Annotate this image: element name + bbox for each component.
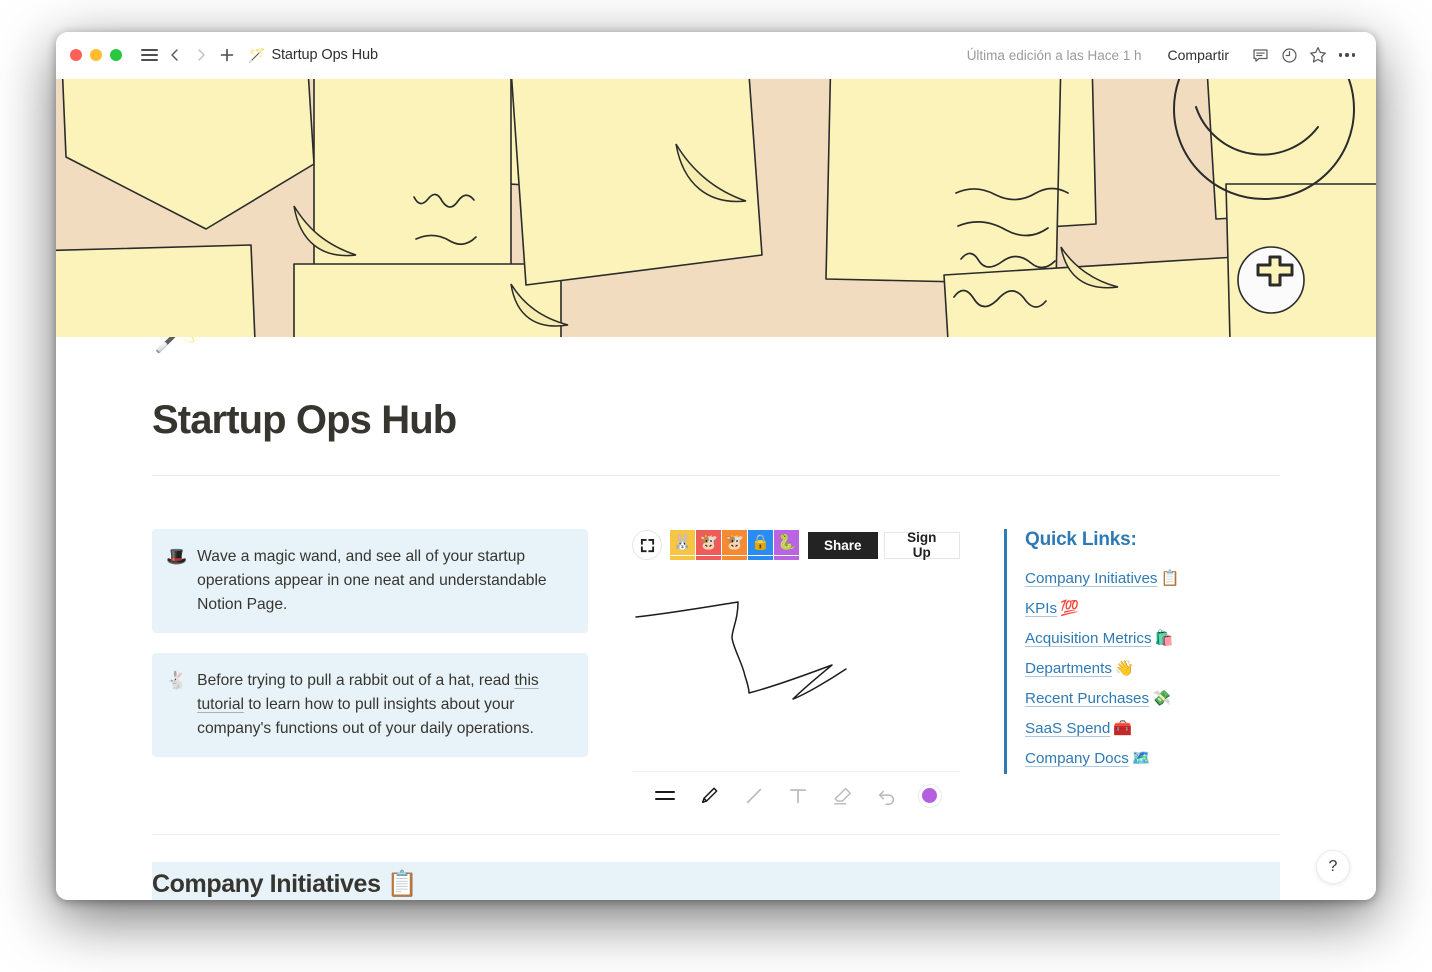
eraser-tool-icon[interactable] <box>829 783 855 809</box>
whiteboard-canvas[interactable] <box>632 575 960 771</box>
app-window: 🪄 Startup Ops Hub Última edición a las H… <box>56 32 1376 900</box>
history-icon[interactable] <box>1276 42 1302 68</box>
sidebar-toggle-icon[interactable] <box>136 42 162 68</box>
titlebar-actions: Última edición a las Hace 1 h Compartir <box>967 42 1360 68</box>
section-heading-company-initiatives[interactable]: Company Initiatives📋 <box>152 862 1280 900</box>
document-title[interactable]: Startup Ops Hub <box>271 47 378 63</box>
avatar[interactable]: 🐮 <box>696 530 721 560</box>
quick-link-label: Acquisition Metrics <box>1025 630 1152 647</box>
quick-link-acquisition-metrics[interactable]: Acquisition Metrics🛍️ <box>1025 624 1280 654</box>
quick-link-kpis[interactable]: KPIs💯 <box>1025 594 1280 624</box>
whiteboard-signup-button[interactable]: Sign Up <box>884 532 960 559</box>
title-divider <box>152 475 1280 476</box>
avatar-chip: 🐮 <box>722 530 747 555</box>
column-middle: 🐰 🐮 🐮 <box>588 529 960 819</box>
toolbox-icon: 🧰 <box>1113 714 1132 744</box>
quick-link-saas-spend[interactable]: SaaS Spend🧰 <box>1025 714 1280 744</box>
forward-arrow-icon[interactable] <box>188 42 214 68</box>
avatar[interactable]: 🔒 <box>748 530 773 560</box>
avatar-chip: 🐮 <box>696 530 721 555</box>
avatar[interactable]: 🐍 <box>774 530 799 560</box>
last-edited-label: Última edición a las Hace 1 h <box>967 48 1142 63</box>
cover-illustration <box>56 79 1376 337</box>
waving-hand-icon: 👋 <box>1115 654 1134 684</box>
callout-magic-wand[interactable]: 🎩 Wave a magic wand, and see all of your… <box>152 529 588 633</box>
quick-link-label: Company Docs <box>1025 750 1129 767</box>
quick-link-label: Departments <box>1025 660 1112 677</box>
whiteboard-share-button[interactable]: Share <box>808 532 878 559</box>
money-with-wings-icon: 💸 <box>1152 684 1171 714</box>
rabbit-icon: 🐇 <box>166 669 187 741</box>
collaborator-avatars[interactable]: 🐰 🐮 🐮 <box>670 530 799 560</box>
quick-link-label: Company Initiatives <box>1025 570 1158 587</box>
avatar[interactable]: 🐰 <box>670 530 695 560</box>
callout-body-lead: Before trying to pull a rabbit out of a … <box>197 672 514 689</box>
quick-links-block: Quick Links: Company Initiatives📋 KPIs💯 … <box>1004 529 1280 774</box>
window-controls[interactable] <box>70 49 122 61</box>
menu-tool-icon[interactable] <box>652 783 678 809</box>
page-tab-emoji: 🪄 <box>248 47 265 64</box>
avatar-chip: 🐍 <box>774 530 799 555</box>
column-right: Quick Links: Company Initiatives📋 KPIs💯 … <box>960 529 1280 819</box>
help-button[interactable]: ? <box>1316 850 1350 884</box>
plus-icon[interactable] <box>214 42 240 68</box>
favorite-star-icon[interactable] <box>1305 42 1331 68</box>
active-color-swatch <box>922 788 937 803</box>
avatar-color-bar <box>696 556 721 560</box>
callout-tutorial[interactable]: 🐇 Before trying to pull a rabbit out of … <box>152 653 588 757</box>
avatar-color-bar <box>774 556 799 560</box>
maximize-window-button[interactable] <box>110 49 122 61</box>
quick-link-recent-purchases[interactable]: Recent Purchases💸 <box>1025 684 1280 714</box>
line-tool-icon[interactable] <box>741 783 767 809</box>
fullscreen-icon[interactable] <box>632 530 662 560</box>
quick-link-label: Recent Purchases <box>1025 690 1149 707</box>
back-arrow-icon[interactable] <box>162 42 188 68</box>
clipboard-icon: 📋 <box>387 870 418 898</box>
callout-body-tail: to learn how to pull insights about your… <box>197 696 534 737</box>
screen-root: 🪄 Startup Ops Hub Última edición a las H… <box>0 0 1432 972</box>
quick-links-title: Quick Links: <box>1025 529 1280 551</box>
quick-link-label: SaaS Spend <box>1025 720 1110 737</box>
avatar-chip: 🔒 <box>748 530 773 555</box>
pen-tool-icon[interactable] <box>696 783 722 809</box>
comment-icon[interactable] <box>1247 42 1273 68</box>
avatar[interactable]: 🐮 <box>722 530 747 560</box>
callout-body: Wave a magic wand, and see all of your s… <box>197 548 546 613</box>
callout-text: Before trying to pull a rabbit out of a … <box>197 669 572 741</box>
content-columns: 🎩 Wave a magic wand, and see all of your… <box>152 529 1280 819</box>
cover-pin-badge <box>1238 247 1304 313</box>
page-cover-image[interactable] <box>56 79 1376 337</box>
quick-link-label: KPIs <box>1025 600 1057 617</box>
shopping-bags-icon: 🛍️ <box>1155 624 1174 654</box>
column-left: 🎩 Wave a magic wand, and see all of your… <box>152 529 588 819</box>
page-title[interactable]: Startup Ops Hub <box>152 398 456 443</box>
page-icon-emoji[interactable]: 🪄 <box>152 337 219 351</box>
section-heading-label: Company Initiatives <box>152 870 381 898</box>
more-options-icon[interactable] <box>1334 42 1360 68</box>
map-icon: 🗺️ <box>1132 744 1151 774</box>
clipboard-icon: 📋 <box>1161 564 1180 594</box>
hundred-points-icon: 💯 <box>1060 594 1079 624</box>
avatar-color-bar <box>722 556 747 560</box>
share-button[interactable]: Compartir <box>1159 42 1238 68</box>
quick-link-departments[interactable]: Departments👋 <box>1025 654 1280 684</box>
undo-tool-icon[interactable] <box>874 783 900 809</box>
text-tool-icon[interactable] <box>785 783 811 809</box>
section-divider <box>152 834 1280 835</box>
close-window-button[interactable] <box>70 49 82 61</box>
whiteboard-embed[interactable]: 🐰 🐮 🐮 <box>632 529 960 819</box>
quick-link-company-initiatives[interactable]: Company Initiatives📋 <box>1025 564 1280 594</box>
avatar-color-bar <box>670 556 695 560</box>
whiteboard-header: 🐰 🐮 🐮 <box>632 529 960 561</box>
whiteboard-drawing <box>632 575 960 771</box>
color-tool-icon[interactable] <box>918 784 942 808</box>
titlebar: 🪄 Startup Ops Hub Última edición a las H… <box>56 32 1376 79</box>
minimize-window-button[interactable] <box>90 49 102 61</box>
whiteboard-toolbar <box>632 771 960 819</box>
quick-link-company-docs[interactable]: Company Docs🗺️ <box>1025 744 1280 774</box>
page-body: 🪄 Startup Ops Hub 🎩 Wave a magic wand, a… <box>56 337 1376 900</box>
avatar-color-bar <box>748 556 773 560</box>
top-hat-icon: 🎩 <box>166 545 187 617</box>
avatar-chip: 🐰 <box>670 530 695 555</box>
callout-text: Wave a magic wand, and see all of your s… <box>197 545 572 617</box>
